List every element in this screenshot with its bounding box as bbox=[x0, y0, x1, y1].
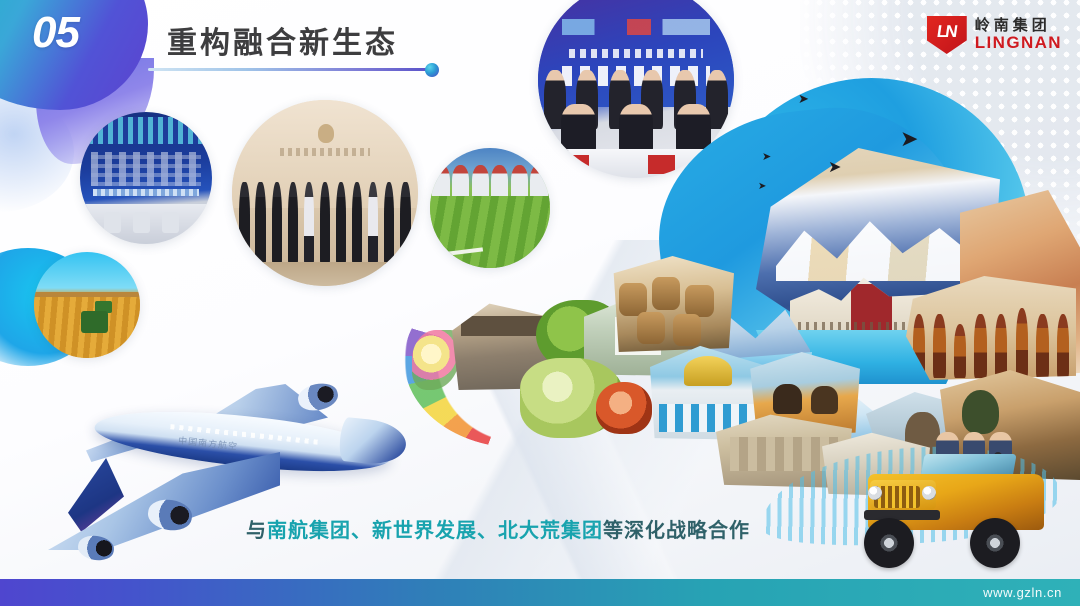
logo-monogram: LN bbox=[936, 22, 957, 42]
photo-group-portrait bbox=[232, 100, 418, 286]
caption-separator-1: 、 bbox=[351, 520, 372, 542]
step-number: 05 bbox=[32, 8, 79, 58]
bird-icon: ➤ bbox=[758, 182, 766, 192]
safari-jeep bbox=[862, 452, 1058, 572]
title-underline bbox=[148, 68, 430, 71]
logo-wordmark: 岭南集团 LINGNAN bbox=[975, 18, 1062, 52]
group-people-row bbox=[239, 182, 410, 264]
brand-logo: LN 岭南集团 LINGNAN bbox=[927, 16, 1062, 54]
slide-canvas: 05 重构融合新生态 LN 岭南集团 LINGNAN bbox=[0, 0, 1080, 606]
wine-barrel bbox=[685, 285, 713, 318]
ceremony-signing-row bbox=[550, 104, 722, 151]
bird-icon: ➤ bbox=[762, 152, 771, 163]
ceremony-partner-line bbox=[569, 49, 702, 59]
jeep-bumper bbox=[864, 510, 940, 520]
mosque-golden-dome bbox=[684, 356, 732, 387]
caption-separator-2: 、 bbox=[477, 520, 498, 542]
jeep-wheel bbox=[864, 518, 914, 568]
collage-wine-glass bbox=[596, 382, 652, 434]
page-title: 重构融合新生态 bbox=[167, 18, 398, 62]
footer-bar: www.gzln.cn bbox=[0, 579, 1080, 606]
title-end-dot-icon bbox=[425, 63, 439, 77]
ceremony-table-folder bbox=[648, 155, 675, 175]
stage-screen-top bbox=[88, 117, 204, 143]
eagle-icon: ➤ bbox=[900, 128, 918, 150]
wine-barrel bbox=[652, 277, 680, 310]
photo-signing-ceremony bbox=[538, 0, 734, 178]
jeep-wheel bbox=[970, 518, 1020, 568]
photo-conference-stage bbox=[80, 112, 212, 244]
caption-partner-3: 北大荒集团 bbox=[498, 520, 603, 542]
hall-floor bbox=[232, 262, 418, 286]
ruins-wall bbox=[730, 437, 839, 471]
caption-suffix: 等深化战略合作 bbox=[603, 520, 750, 542]
jeep-headlight-icon bbox=[922, 486, 936, 500]
logo-shield-icon: LN bbox=[927, 16, 967, 54]
hall-emblem bbox=[318, 124, 335, 143]
logo-name-cn: 岭南集团 bbox=[975, 18, 1062, 34]
footer-website-url: www.gzln.cn bbox=[983, 585, 1062, 600]
stage-screen-content bbox=[91, 152, 202, 186]
logo-name-en: LINGNAN bbox=[975, 34, 1062, 52]
photo-grain-silos bbox=[430, 148, 550, 268]
caption-partner-2: 新世界发展 bbox=[372, 520, 477, 542]
ceremony-partner-logos bbox=[562, 19, 711, 35]
airplane-nose bbox=[338, 417, 408, 468]
wine-barrel bbox=[673, 314, 701, 347]
caption-partner-1: 南航集团 bbox=[267, 520, 351, 542]
bird-icon: ➤ bbox=[828, 160, 841, 176]
stage-chair bbox=[162, 212, 179, 233]
ceremony-table-folder bbox=[562, 155, 589, 175]
wine-barrel bbox=[619, 283, 647, 316]
green-field bbox=[430, 196, 550, 268]
wine-barrel bbox=[637, 312, 665, 345]
silo-row bbox=[432, 165, 547, 199]
stage-chair bbox=[104, 212, 121, 233]
bird-icon: ➤ bbox=[798, 92, 809, 105]
hall-banner-text bbox=[280, 148, 369, 155]
caption-prefix: 与 bbox=[246, 520, 267, 542]
mountain-snow-peaks bbox=[776, 215, 981, 282]
caption-text: 与南航集团、新世界发展、北大荒集团等深化战略合作 bbox=[246, 514, 750, 543]
stage-chair bbox=[133, 212, 150, 233]
bear-figure bbox=[773, 384, 802, 414]
savanna-tree bbox=[962, 390, 998, 434]
collage-wine-barrels bbox=[606, 256, 734, 352]
tribal-figure-row bbox=[913, 303, 1069, 378]
bear-figure bbox=[811, 386, 838, 415]
stage-podium bbox=[93, 189, 199, 197]
jeep-headlight-icon bbox=[868, 486, 882, 500]
collage-flower bbox=[412, 330, 460, 390]
combine-harvester bbox=[81, 311, 109, 332]
